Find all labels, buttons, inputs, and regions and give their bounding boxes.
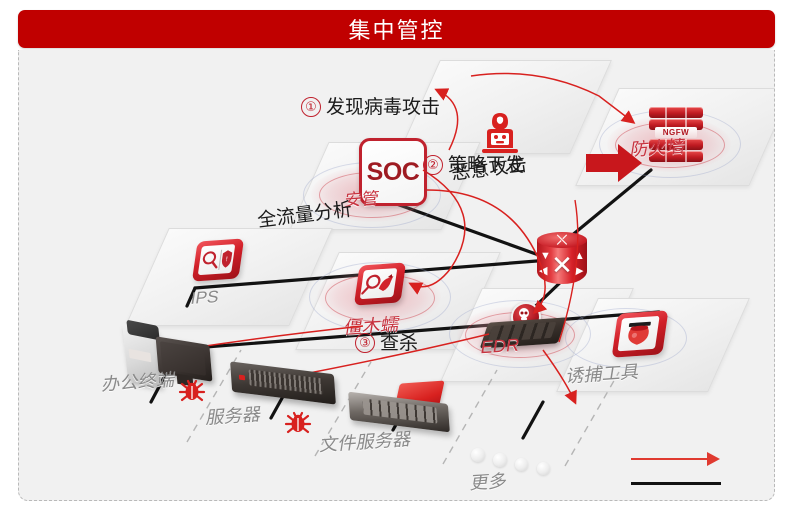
diagram-stage: 集中管控: [0, 0, 793, 514]
more-dot-4: [537, 462, 550, 475]
more-dot-3: [515, 458, 528, 471]
page-title-banner: 集中管控: [18, 10, 775, 48]
diagram-canvas: SOC 安管 NGFW 防火墙 ⤬ ✕ ◀ ▶ ▲: [18, 50, 775, 501]
annotation-step-2-text: 策略下发: [448, 155, 524, 176]
more-dot-1: [471, 448, 485, 462]
page-title: 集中管控: [348, 13, 444, 45]
annotation-step-1-text: 发现病毒攻击: [326, 97, 440, 118]
legend-flow-arrow-line: [631, 458, 709, 460]
legend-link-line: [631, 482, 721, 485]
annotation-step-1: ①发现病毒攻击: [301, 92, 440, 119]
endpoint-label-more: 更多: [469, 467, 510, 495]
annotation-step-1-number: ①: [301, 97, 321, 117]
annotation-step-2-number: ②: [423, 155, 443, 175]
annotation-step-3: ③查杀: [355, 328, 418, 355]
annotation-step-2: ②策略下发: [423, 150, 524, 177]
annotation-step-3-text: 查杀: [380, 333, 418, 354]
annotation-step-3-number: ③: [355, 333, 375, 353]
more-dot-2: [493, 453, 507, 467]
legend: [631, 448, 741, 490]
legend-flow-arrow-head: [707, 452, 720, 466]
ngfw-badge-label: NGFW: [655, 127, 697, 138]
